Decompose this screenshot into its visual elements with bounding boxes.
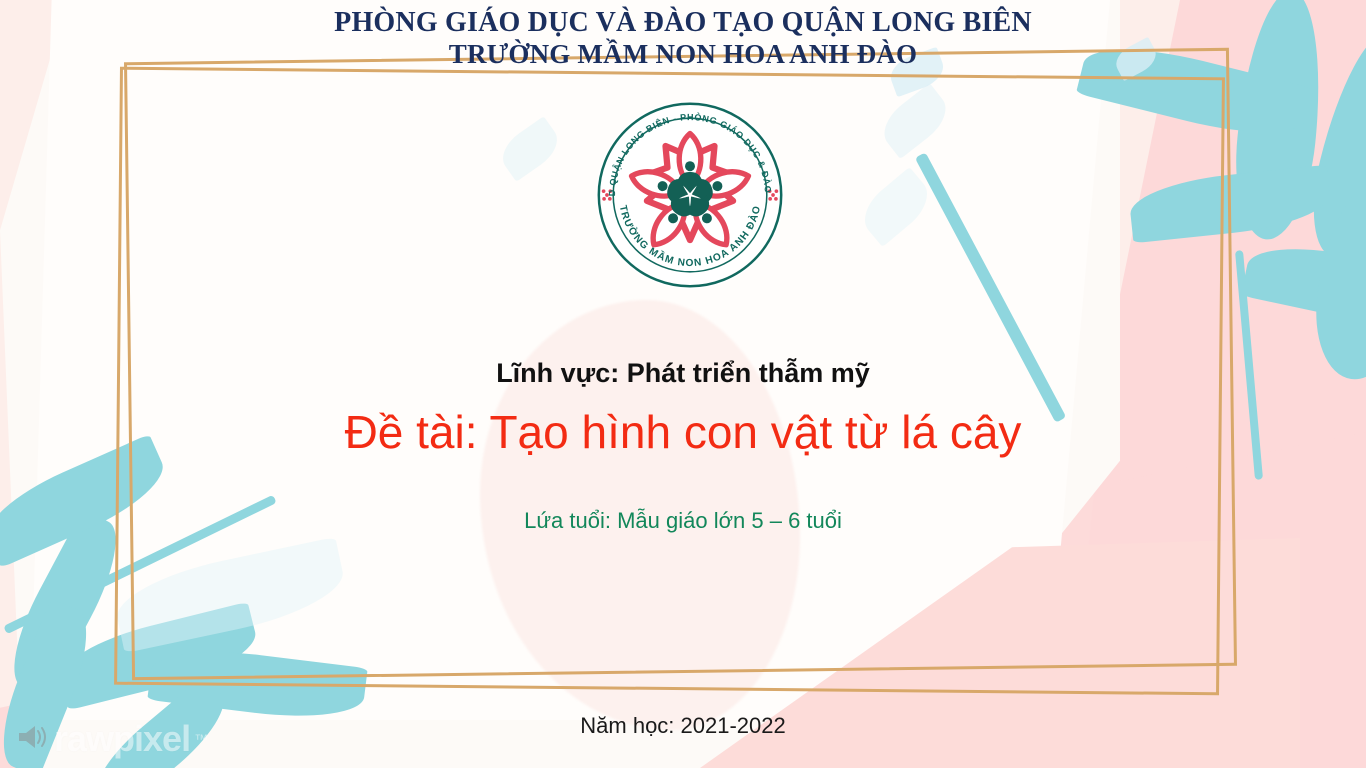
field-label: Lĩnh vực: Phát triển thẫm mỹ — [0, 358, 1366, 389]
header-title-block: PHÒNG GIÁO DỤC VÀ ĐÀO TẠO QUẬN LONG BIÊN… — [0, 6, 1366, 71]
watermark-label: rawpixel — [54, 718, 190, 760]
age-group-label: Lứa tuổi: Mẫu giáo lớn 5 – 6 tuổi — [0, 508, 1366, 534]
school-logo: UBND QUẬN LONG BIÊN - PHÒNG GIÁO DỤC & Đ… — [594, 99, 786, 291]
speaker-icon — [16, 722, 50, 757]
topic-title: Đề tài: Tạo hình con vật từ lá cây — [0, 405, 1366, 459]
header-line-2: TRƯỜNG MẦM NON HOA ANH ĐÀO — [0, 39, 1366, 71]
presentation-slide: PHÒNG GIÁO DỤC VÀ ĐÀO TẠO QUẬN LONG BIÊN… — [0, 0, 1366, 768]
header-line-1: PHÒNG GIÁO DỤC VÀ ĐÀO TẠO QUẬN LONG BIÊN — [0, 6, 1366, 39]
watermark: rawpixel ™ — [16, 718, 208, 760]
watermark-trademark: ™ — [194, 731, 208, 747]
